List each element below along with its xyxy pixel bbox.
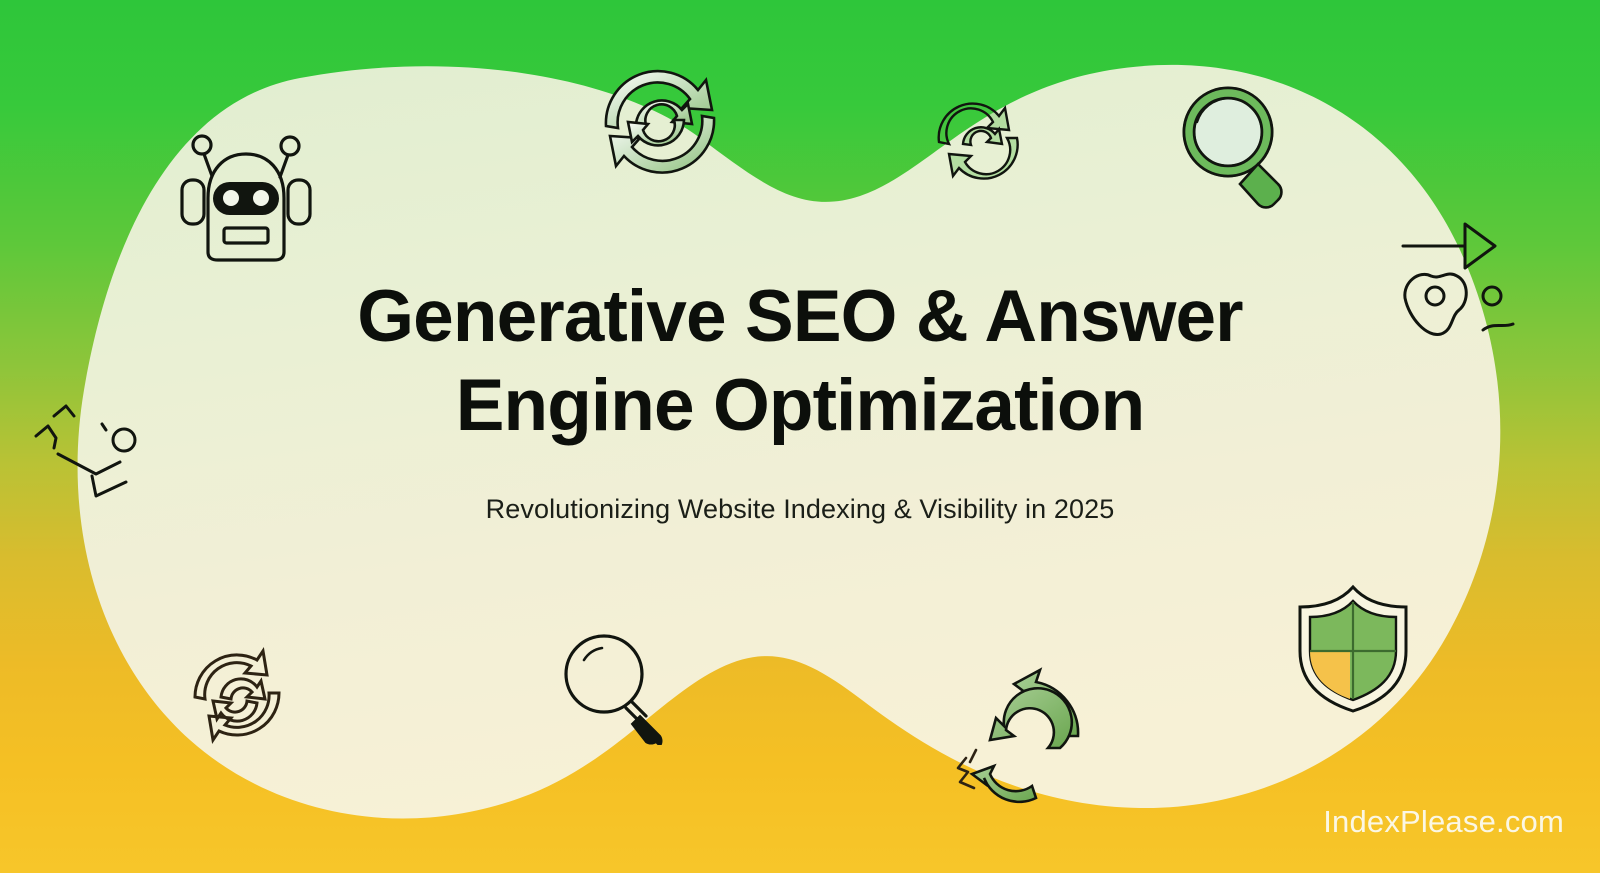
search-magnifier-icon	[1170, 78, 1310, 223]
refresh-cycle-icon	[580, 52, 740, 192]
page-title: Generative SEO & Answer Engine Optimizat…	[0, 272, 1600, 450]
page-title-line2: Engine Optimization	[456, 365, 1145, 446]
shield-icon	[1292, 583, 1414, 713]
refresh-cycle-small-icon	[925, 92, 1035, 197]
search-magnifier-outline-icon	[556, 630, 676, 745]
hero-banner: Generative SEO & Answer Engine Optimizat…	[0, 0, 1600, 873]
brand-watermark: IndexPlease.com	[1323, 804, 1564, 840]
page-subtitle: Revolutionizing Website Indexing & Visib…	[0, 494, 1600, 525]
page-title-line1: Generative SEO & Answer	[357, 276, 1242, 357]
hero-text-block: Generative SEO & Answer Engine Optimizat…	[0, 272, 1600, 525]
spiral-outline-icon	[175, 635, 300, 760]
robot-icon	[168, 132, 320, 262]
refresh-arrows-icon	[948, 640, 1093, 805]
